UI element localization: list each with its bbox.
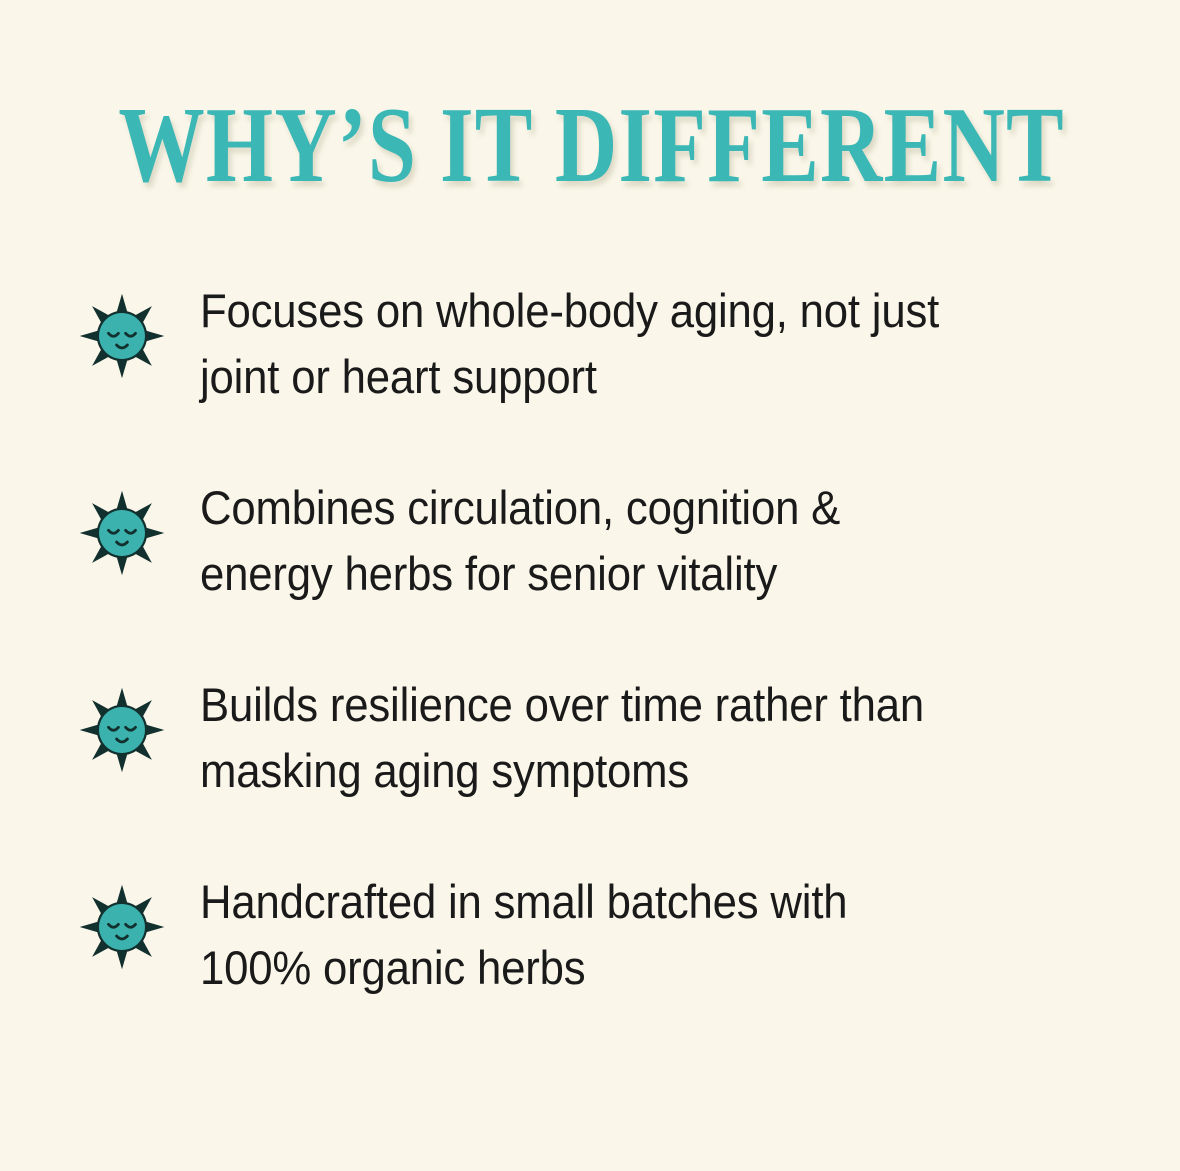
- flower-smiling-icon: [77, 685, 167, 775]
- page-title: WHY’S IT DIFFERENT: [118, 92, 1065, 200]
- list-item: Focuses on whole-body aging, not just jo…: [0, 278, 1180, 475]
- list-item: Handcrafted in small batches with 100% o…: [0, 869, 1180, 1066]
- page-title-container: WHY’S IT DIFFERENT: [0, 92, 1180, 200]
- list-item: Combines circulation, cognition & energy…: [0, 475, 1180, 672]
- list-item-label: Combines circulation, cognition & energy…: [200, 475, 944, 607]
- list-item-label: Builds resilience over time rather than …: [200, 672, 944, 804]
- list-item: Builds resilience over time rather than …: [0, 672, 1180, 869]
- flower-smiling-icon: [77, 291, 167, 381]
- flower-smiling-icon: [77, 882, 167, 972]
- list-item-label: Focuses on whole-body aging, not just jo…: [200, 278, 944, 410]
- benefits-list: Focuses on whole-body aging, not just jo…: [0, 278, 1180, 1066]
- why-its-different-poster: WHY’S IT DIFFERENT: [0, 0, 1180, 1171]
- flower-smiling-icon: [77, 488, 167, 578]
- list-item-label: Handcrafted in small batches with 100% o…: [200, 869, 944, 1001]
